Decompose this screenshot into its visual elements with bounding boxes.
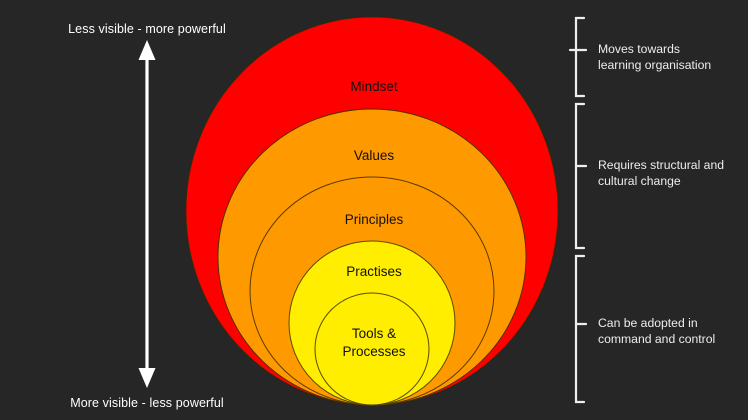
- ring-label-tools-processes-line1: Tools &: [317, 325, 431, 343]
- bracket-label-1-line1: Moves towards: [598, 41, 748, 57]
- bracket-label-3-line2: command and control: [598, 331, 748, 347]
- visibility-power-arrow: [139, 40, 156, 388]
- bracket-label-can-be-adopted-in-command-and-control: Can be adopted in command and control: [598, 315, 748, 347]
- ring-label-tools-processes: Tools & Processes: [317, 325, 431, 361]
- ring-label-mindset: Mindset: [312, 78, 436, 95]
- axis-label-bottom: More visible - less powerful: [57, 396, 237, 410]
- bracket-label-2-line1: Requires structural and: [598, 157, 748, 173]
- ring-label-tools-processes-line2: Processes: [317, 343, 431, 361]
- bracket-label-3-line1: Can be adopted in: [598, 315, 748, 331]
- bracket-moves-towards-learning-organisation: [570, 18, 586, 96]
- bracket-label-1-line2: learning organisation: [598, 57, 748, 73]
- bracket-label-requires-structural-and-cultural-change: Requires structural and cultural change: [598, 157, 748, 189]
- ring-label-practises: Practises: [312, 263, 436, 280]
- bracket-label-2-line2: cultural change: [598, 173, 748, 189]
- diagram-canvas: Less visible - more powerful More visibl…: [0, 0, 748, 420]
- ring-label-values: Values: [312, 147, 436, 164]
- bracket-can-be-adopted-in-command-and-control: [576, 256, 586, 402]
- axis-label-top: Less visible - more powerful: [57, 22, 237, 36]
- bracket-requires-structural-and-cultural-change: [576, 104, 586, 248]
- ring-label-principles: Principles: [310, 211, 438, 228]
- bracket-label-moves-towards-learning-organisation: Moves towards learning organisation: [598, 41, 748, 73]
